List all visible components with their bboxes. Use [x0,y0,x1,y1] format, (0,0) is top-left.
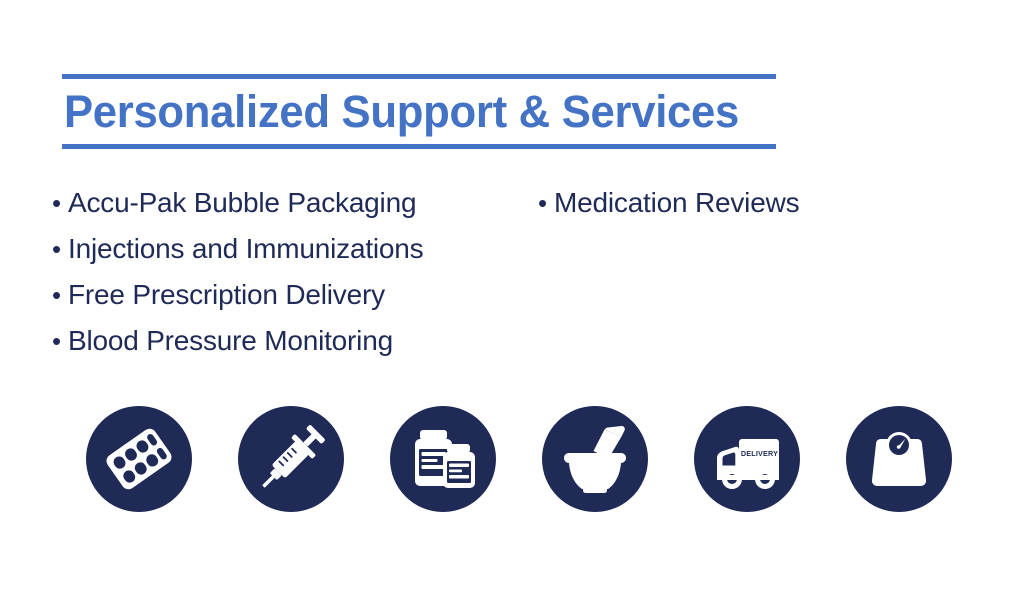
icon-circle-blister-pack [86,406,192,512]
icon-circle-weight-scale [846,406,952,512]
page-title: Personalized Support & Services [62,79,755,144]
service-label-medication-reviews: Medication Reviews [554,180,799,226]
service-label-injections: Injections and Immunizations [68,226,423,272]
services-column-right: • Medication Reviews [538,180,968,226]
bullet-marker: • [538,180,554,226]
pill-bottles-icon [390,406,496,512]
icon-circle-delivery-van: DELIVERY [694,406,800,512]
list-item: • Accu-Pak Bubble Packaging [52,180,532,226]
icon-strip: DELIVERY [0,406,1025,516]
list-item: • Injections and Immunizations [52,226,532,272]
bullet-marker: • [52,272,68,318]
slide-canvas: Personalized Support & Services • Accu-P… [0,0,1025,590]
title-rule-bottom [62,144,776,149]
services-column-left: • Accu-Pak Bubble Packaging • Injections… [52,180,532,364]
van-delivery-text: DELIVERY [741,449,778,458]
service-label-accu-pak: Accu-Pak Bubble Packaging [68,180,416,226]
bullet-marker: • [52,180,68,226]
list-item: • Blood Pressure Monitoring [52,318,532,364]
bullet-marker: • [52,226,68,272]
service-label-blood-pressure: Blood Pressure Monitoring [68,318,393,364]
icon-circle-mortar-pestle [542,406,648,512]
icon-circle-syringe [238,406,344,512]
blister-pack-icon [86,406,192,512]
bullet-marker: • [52,318,68,364]
list-item: • Free Prescription Delivery [52,272,532,318]
weight-scale-icon [846,406,952,512]
delivery-van-icon: DELIVERY [694,406,800,512]
mortar-and-pestle-icon [542,406,648,512]
list-item: • Medication Reviews [538,180,968,226]
title-block: Personalized Support & Services [62,74,776,149]
service-label-delivery: Free Prescription Delivery [68,272,385,318]
icon-circle-pill-bottles [390,406,496,512]
syringe-icon [238,406,344,512]
